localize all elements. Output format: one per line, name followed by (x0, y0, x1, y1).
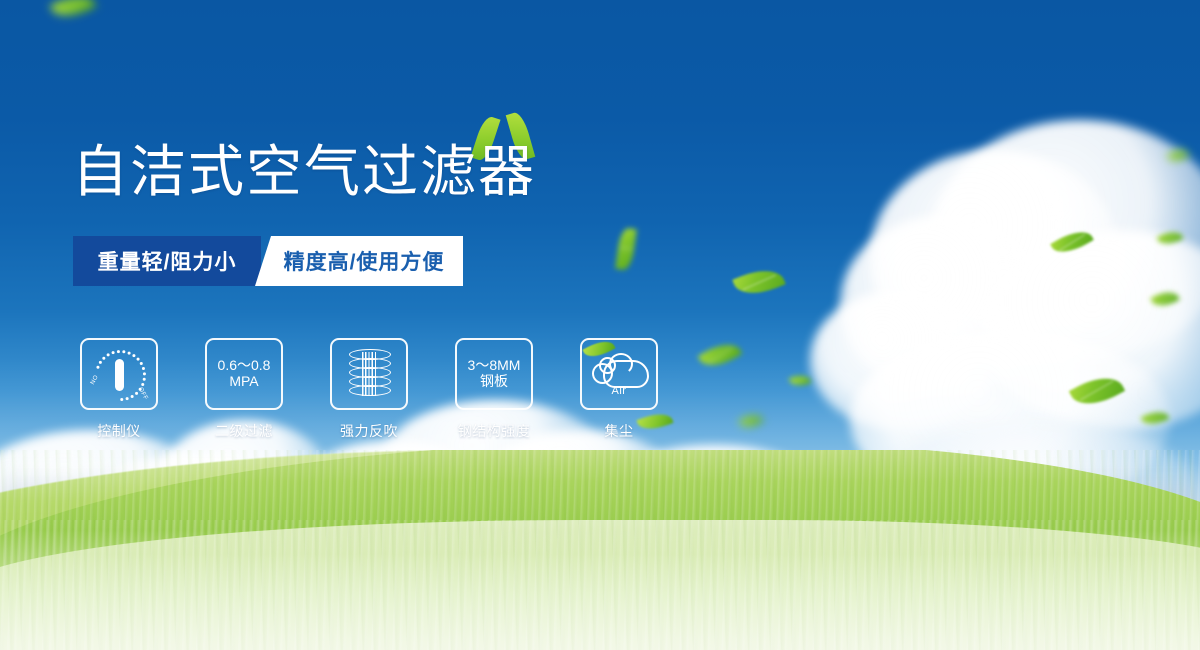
gauge-dial-icon: NO OFF (91, 346, 147, 402)
pressure-text-icon-line2: MPA (229, 374, 258, 390)
page-title: 自洁式空气过滤器 (72, 144, 536, 200)
steel-text-icon-line2: 钢板 (480, 374, 508, 390)
feature-label: 集尘 (605, 421, 634, 441)
gauge-label-off: OFF (136, 387, 148, 402)
coil-ring (349, 385, 391, 396)
feature-icon-box: Air (580, 338, 658, 410)
steel-text-icon-line1: 3～8MM (468, 358, 521, 374)
banner-content: 自洁式空气过滤器 重量轻/阻力小 精度高/使用方便 (0, 0, 1200, 650)
feature-label: 二级过滤 (215, 421, 273, 441)
air-cloud-icon: Air (589, 352, 649, 394)
feature-item-two-stage-filter[interactable]: 0.6～0.8 MPA 二级过滤 (205, 338, 283, 441)
subtitle-bar: 重量轻/阻力小 精度高/使用方便 (73, 236, 463, 286)
feature-icon-box: 0.6～0.8 MPA (205, 338, 283, 410)
feature-item-dust-collection[interactable]: Air 集尘 (580, 338, 658, 441)
gauge-label-no: NO (90, 374, 100, 386)
pressure-text-icon-line1: 0.6～0.8 (218, 358, 271, 374)
decorative-leaf-icon (636, 409, 673, 435)
feature-icon-box: NO OFF (80, 338, 158, 410)
feature-label: 强力反吹 (340, 421, 398, 441)
feature-label: 钢结构强度 (458, 421, 531, 441)
air-label: Air (589, 385, 649, 397)
feature-item-steel-strength[interactable]: 3～8MM 钢板 钢结构强度 (455, 338, 533, 441)
feature-icon-box: 3～8MM 钢板 (455, 338, 533, 410)
feature-label: 控制仪 (97, 421, 141, 441)
cloud-body (603, 360, 649, 388)
feature-item-controller[interactable]: NO OFF 控制仪 (80, 338, 158, 441)
subtitle-right-tag: 精度高/使用方便 (255, 236, 463, 286)
gauge-needle-icon (115, 359, 124, 391)
subtitle-left-tag: 重量轻/阻力小 (73, 236, 261, 286)
feature-list: NO OFF 控制仪 0.6～0.8 MPA 二级过滤 (80, 338, 658, 441)
feature-icon-box (330, 338, 408, 410)
filter-coil-icon (347, 348, 391, 400)
product-banner: 自洁式空气过滤器 重量轻/阻力小 精度高/使用方便 (0, 0, 1200, 650)
feature-item-strong-backblow[interactable]: 强力反吹 (330, 338, 408, 441)
